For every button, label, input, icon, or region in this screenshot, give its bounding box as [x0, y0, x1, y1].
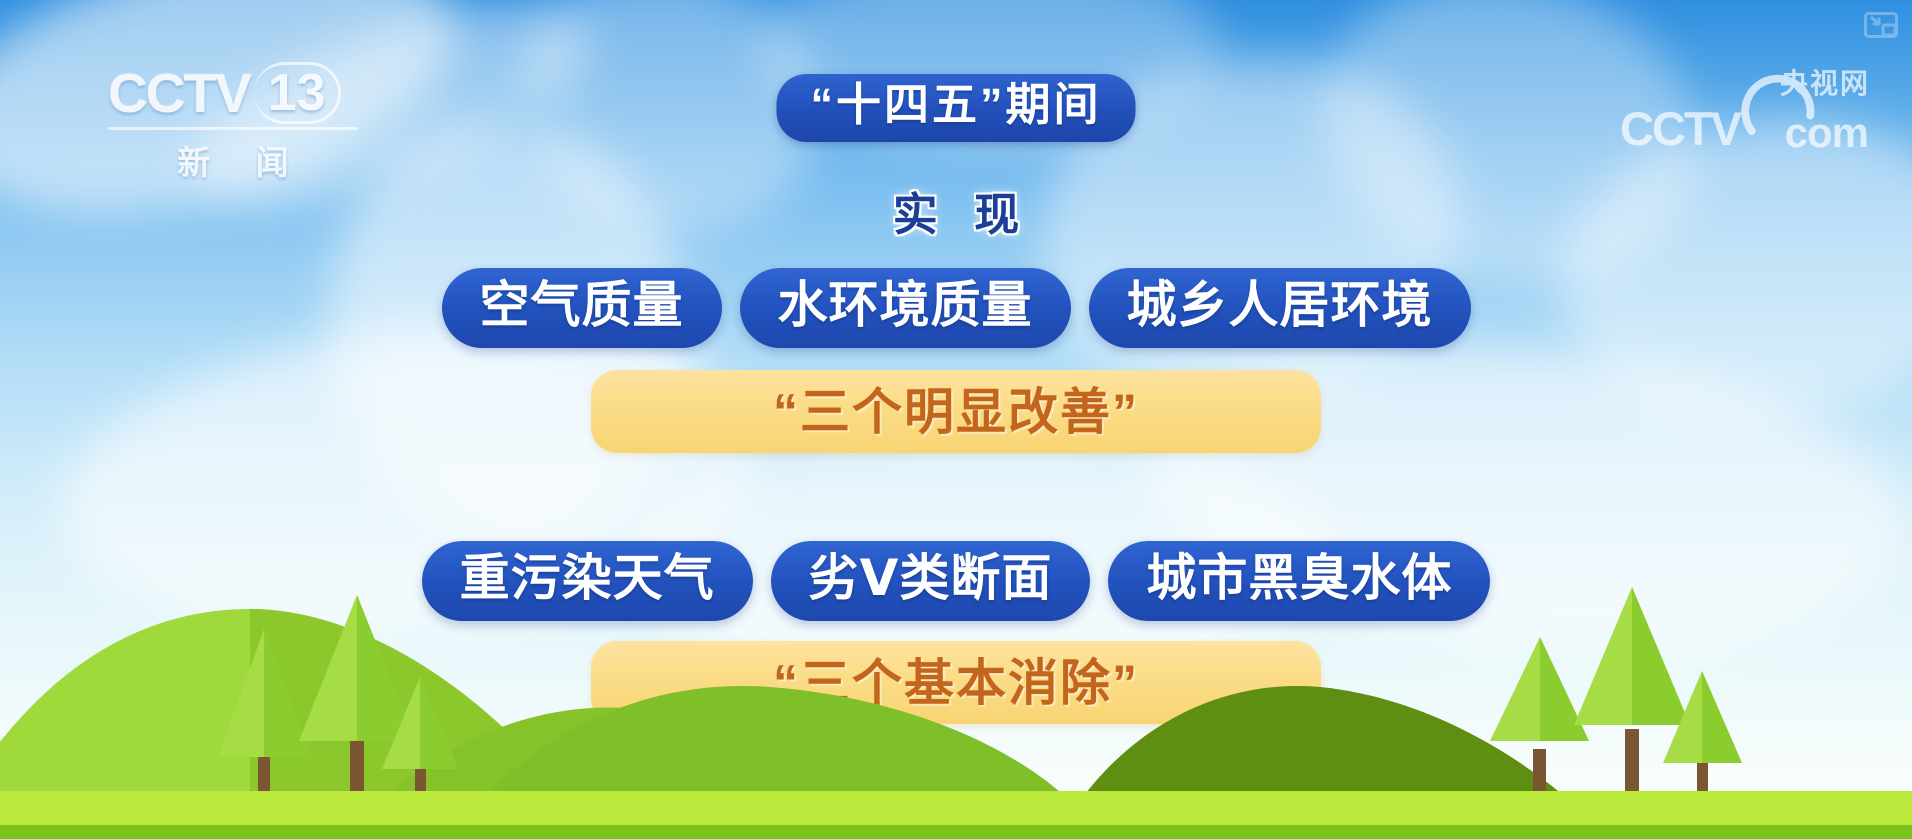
topic-pill-water-environment-quality[interactable]: 水环境质量 — [740, 268, 1071, 348]
topic-pill-heavy-pollution-weather[interactable]: 重污染天气 — [422, 541, 753, 621]
topic-pill-label: 空气质量 — [480, 279, 684, 332]
headline-subtitle: 实 现 — [881, 178, 1032, 243]
logo-underline — [108, 127, 358, 130]
topic-pill-label: 重污染天气 — [460, 552, 715, 605]
cctv-com-watermark: CCTV 央视网 com — [1620, 60, 1870, 156]
summary-banner-three-eliminations: “三个基本消除” — [591, 641, 1321, 724]
cctv13-channel-logo: CCTV 13 新 闻 — [108, 62, 368, 172]
picture-in-picture-icon[interactable] — [1864, 12, 1898, 38]
cctv-com-wordmark: CCTV — [1620, 105, 1740, 152]
headline-title: “十四五”期间 — [810, 81, 1101, 130]
topic-pill-air-quality[interactable]: 空气质量 — [442, 268, 722, 348]
summary-banner-three-improvements: “三个明显改善” — [591, 370, 1321, 453]
summary-banner-label: “三个明显改善” — [773, 387, 1139, 437]
headline-title-pill: “十四五”期间 — [776, 74, 1135, 142]
topic-pill-label: 劣Ⅴ类断面 — [809, 552, 1053, 605]
cctv-com-domain: com — [1785, 112, 1868, 154]
cctv13-logo-row: CCTV 13 — [108, 62, 368, 124]
channel-number: 13 — [268, 67, 326, 119]
topic-pill-label: 水环境质量 — [778, 279, 1033, 332]
pill-row-improve: 空气质量 水环境质量 城乡人居环境 — [0, 268, 1912, 348]
channel-name-label: 新 闻 — [108, 136, 358, 184]
broadcast-frame: CCTV 13 新 闻 CCTV 央视网 com “十四五”期间 实 现 空气质… — [0, 0, 1912, 839]
pill-row-eliminate: 重污染天气 劣Ⅴ类断面 城市黑臭水体 — [0, 541, 1912, 621]
channel-number-badge: 13 — [254, 62, 341, 124]
topic-pill-label: 城市黑臭水体 — [1146, 552, 1452, 605]
cctv-wordmark: CCTV — [108, 66, 250, 121]
topic-pill-label: 城乡人居环境 — [1127, 279, 1433, 332]
cctv-com-cn-name: 央视网 — [1780, 70, 1870, 98]
topic-pill-urban-rural-living-environment[interactable]: 城乡人居环境 — [1089, 268, 1471, 348]
summary-banner-label: “三个基本消除” — [773, 658, 1139, 708]
topic-pill-urban-black-odorous-water[interactable]: 城市黑臭水体 — [1108, 541, 1490, 621]
topic-pill-inferior-class-v-sections[interactable]: 劣Ⅴ类断面 — [771, 541, 1091, 621]
